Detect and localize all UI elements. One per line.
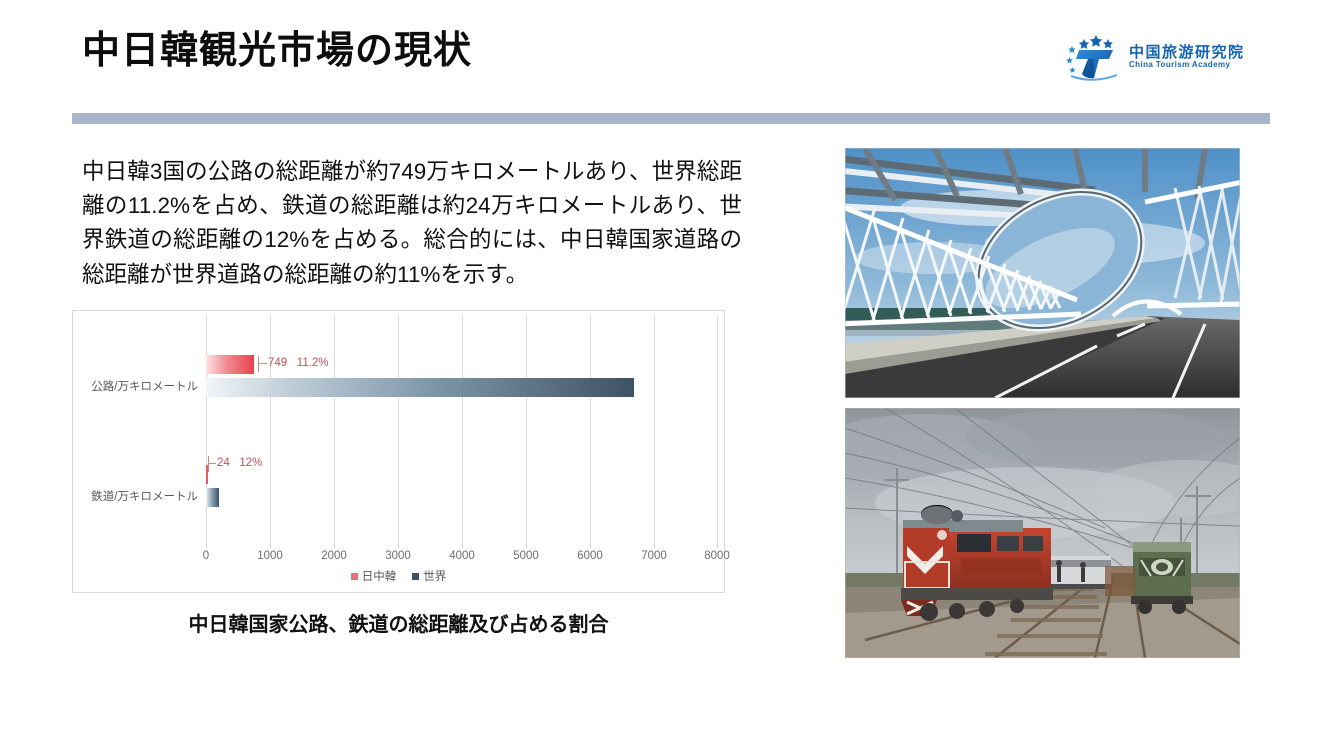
chart-category-label-road: 公路/万キロメートル xyxy=(91,378,198,394)
x-tick-label: 4000 xyxy=(449,550,475,562)
legend-label-3countries: 日中韓 xyxy=(362,568,397,584)
gridline xyxy=(654,316,655,544)
page-title: 中日韓観光市場の現状 xyxy=(82,30,472,74)
x-tick-mark xyxy=(398,544,399,548)
railway-locomotives-photo xyxy=(845,408,1240,658)
x-tick-label: 7000 xyxy=(641,550,667,562)
legend-item-world: 世界 xyxy=(412,568,446,584)
x-tick-mark xyxy=(526,544,527,548)
logo-text: 中国旅游研究院 China Tourism Academy xyxy=(1129,45,1245,70)
x-tick-mark xyxy=(590,544,591,548)
x-tick-label: 0 xyxy=(203,550,209,562)
slide: 中日韓観光市場の現状 xyxy=(0,0,1333,750)
data-label-leader-tick xyxy=(258,356,259,372)
chart-plot-area: 公路/万キロメートル 749 11.2% 鉄道/万キロメートル 24 12% xyxy=(206,316,718,544)
x-tick-label: 5000 xyxy=(513,550,539,562)
data-label-rail-share: 12% xyxy=(239,457,262,469)
x-tick-mark xyxy=(462,544,463,548)
x-tick-label: 3000 xyxy=(385,550,411,562)
bar-rail-world xyxy=(206,488,219,507)
data-label-leader-tick-rail xyxy=(208,456,209,472)
x-tick-mark xyxy=(270,544,271,548)
legend-label-world: 世界 xyxy=(423,568,446,584)
chart-category-label-rail: 鉄道/万キロメートル xyxy=(91,488,198,504)
x-tick-label: 2000 xyxy=(321,550,347,562)
bar-road-world xyxy=(206,378,634,397)
legend-item-3countries: 日中韓 xyxy=(351,568,397,584)
data-label-road-value: 749 xyxy=(268,357,287,369)
gridline xyxy=(270,316,271,544)
logo-name-en: China Tourism Academy xyxy=(1129,61,1245,70)
chart-panel: 公路/万キロメートル 749 11.2% 鉄道/万キロメートル 24 12% xyxy=(72,310,725,593)
data-label-road-share: 11.2% xyxy=(297,357,329,369)
gridline xyxy=(462,316,463,544)
x-tick-mark xyxy=(334,544,335,548)
gridline xyxy=(717,316,718,544)
gridline xyxy=(206,316,207,544)
data-label-leader-line-rail xyxy=(208,463,216,464)
bridge-highway-photo xyxy=(845,148,1240,398)
x-tick-label: 8000 xyxy=(704,550,730,562)
brand-logo: 中国旅游研究院 China Tourism Academy xyxy=(1063,30,1243,84)
gridline xyxy=(334,316,335,544)
x-tick-mark xyxy=(717,544,718,548)
x-tick-label: 1000 xyxy=(257,550,283,562)
legend-swatch-blue xyxy=(412,573,419,580)
body-paragraph: 中日韓3国の公路の総距離が約749万キロメートルあり、世界総距離の11.2%を占… xyxy=(82,155,742,292)
legend-swatch-red xyxy=(351,573,358,580)
x-tick-mark xyxy=(654,544,655,548)
x-tick-label: 6000 xyxy=(577,550,603,562)
gridline xyxy=(526,316,527,544)
data-label-rail: 24 12% xyxy=(217,457,262,469)
chart-caption: 中日韓国家公路、鉄道の総距離及び占める割合 xyxy=(72,608,725,637)
tourism-academy-t-star-icon xyxy=(1063,32,1123,82)
data-label-leader-line xyxy=(258,363,267,364)
logo-name-cn: 中国旅游研究院 xyxy=(1129,45,1245,61)
data-label-rail-value: 24 xyxy=(217,457,230,469)
data-label-road: 749 11.2% xyxy=(268,357,329,369)
chart-legend: 日中韓 世界 xyxy=(73,568,724,584)
bar-road-3countries xyxy=(206,355,254,374)
gridline xyxy=(590,316,591,544)
gridline xyxy=(398,316,399,544)
title-divider xyxy=(72,113,1270,124)
x-tick-mark xyxy=(206,544,207,548)
